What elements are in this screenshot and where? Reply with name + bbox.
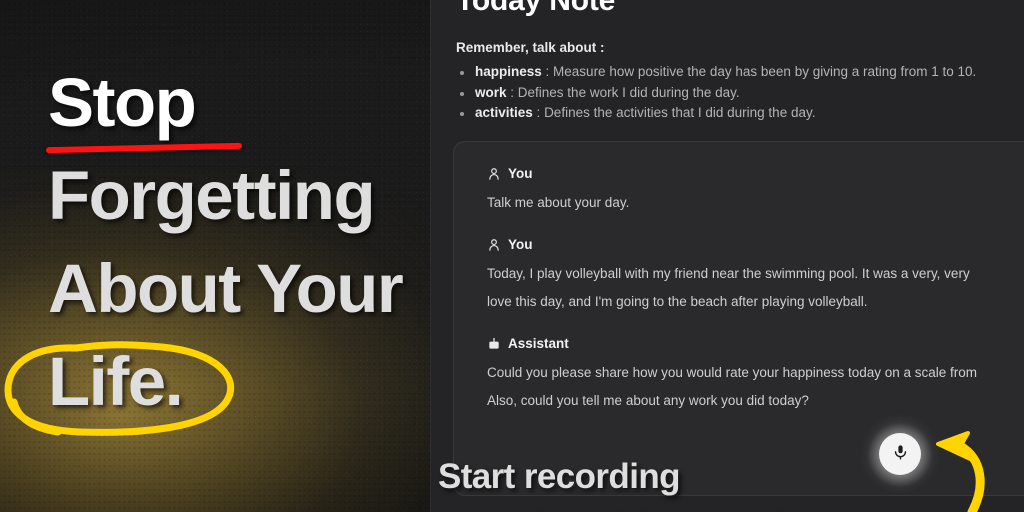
bullet-desc: Measure how positive the day has been by… [553,64,976,79]
note-lead-text: Remember, talk about : [456,40,605,55]
headline-line-2: Forgetting [48,149,608,242]
headline-line-1: Stop [48,56,608,149]
page-title: Today Note [456,0,615,18]
yellow-circle-annotation [2,340,247,438]
headline-line-3: About Your [48,242,608,335]
screenshot-root: Today Note Remember, talk about : happin… [0,0,1024,512]
yellow-arrow-annotation [930,424,1024,512]
